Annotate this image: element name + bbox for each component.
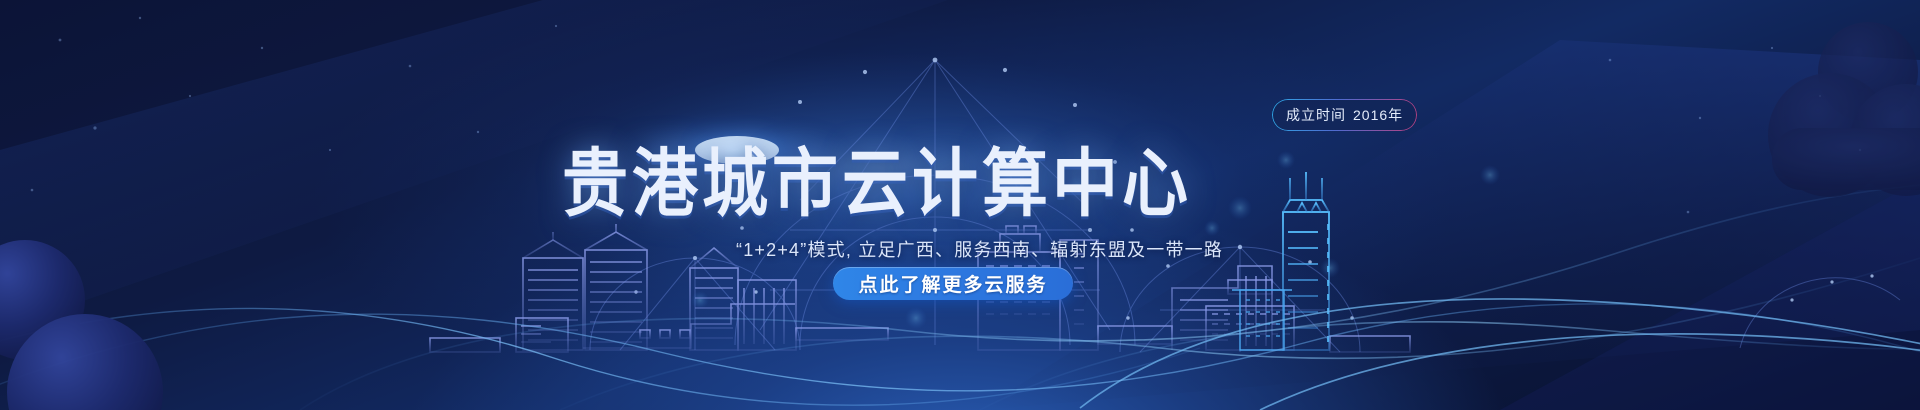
learn-more-cloud-services-button[interactable]: 点此了解更多云服务 — [833, 267, 1073, 300]
page-title: 贵港城市云计算中心 — [562, 145, 1192, 221]
badge-value: 2016年 — [1353, 105, 1403, 125]
banner-subtitle: “1+2+4”模式, 立足广西、服务西南、辐射东盟及一带一路 — [736, 236, 1223, 262]
right-cloud-shape — [1768, 22, 1920, 197]
established-year-badge: 成立时间 2016年 — [1272, 99, 1417, 131]
left-sphere-cluster — [0, 240, 163, 410]
badge-label: 成立时间 — [1286, 105, 1346, 125]
cloud-computing-center-banner: 成立时间 2016年 贵港城市云计算中心 “1+2+4”模式, 立足广西、服务西… — [0, 0, 1920, 410]
